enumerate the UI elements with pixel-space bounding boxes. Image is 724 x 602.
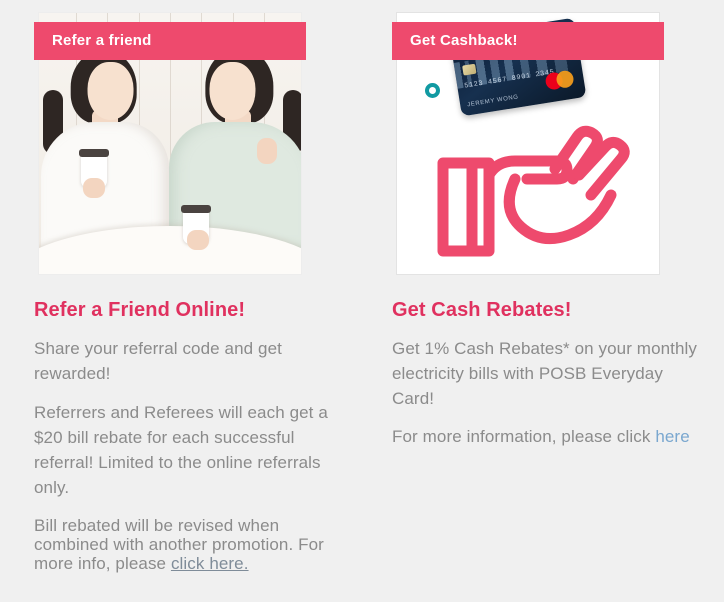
get-cashback-media: everyday POSB 5123 4567 8901 2345 JEREMY… bbox=[392, 12, 660, 275]
ribbon-label: Get Cashback! bbox=[392, 22, 518, 60]
promo-card-refer-a-friend: Refer a friend Refer a Friend Online! Sh… bbox=[0, 0, 362, 602]
get-cashback-heading: Get Cash Rebates! bbox=[392, 299, 700, 322]
ribbon-banner-cashback: Get Cashback! bbox=[392, 22, 664, 60]
promo-card-get-cashback: everyday POSB 5123 4567 8901 2345 JEREMY… bbox=[362, 0, 724, 602]
promotions-grid: Refer a friend Refer a Friend Online! Sh… bbox=[0, 0, 724, 602]
card-chip-icon bbox=[462, 64, 476, 76]
refer-a-friend-media: Refer a friend bbox=[34, 12, 302, 275]
open-hand-icon bbox=[427, 105, 637, 265]
refer-a-friend-footnote: Bill rebated will be revised when combin… bbox=[34, 516, 338, 573]
get-cashback-paragraph-1: Get 1% Cash Rebates* on your monthly ele… bbox=[392, 336, 700, 411]
ribbon-label: Refer a friend bbox=[34, 22, 152, 60]
teal-dot-icon bbox=[425, 83, 440, 98]
click-here-link[interactable]: click here. bbox=[171, 554, 249, 573]
ribbon-notch-icon bbox=[642, 22, 666, 60]
footnote-text: For more information, please click bbox=[392, 427, 655, 446]
mastercard-logo-icon bbox=[544, 70, 574, 91]
refer-a-friend-paragraph-1: Share your referral code and get rewarde… bbox=[34, 336, 338, 386]
here-link[interactable]: here bbox=[655, 427, 689, 446]
refer-a-friend-heading: Refer a Friend Online! bbox=[34, 299, 338, 322]
refer-a-friend-paragraph-2: Referrers and Referees will each get a $… bbox=[34, 400, 338, 500]
ribbon-banner-refer: Refer a friend bbox=[34, 22, 306, 60]
get-cashback-footnote: For more information, please click here bbox=[392, 427, 700, 446]
ribbon-notch-icon bbox=[284, 22, 308, 60]
